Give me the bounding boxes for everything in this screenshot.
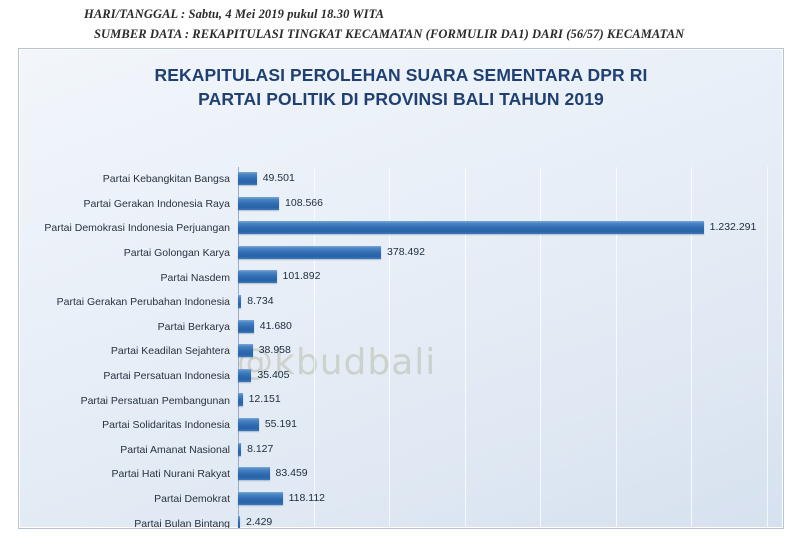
bar-row[interactable]: 35.405	[238, 364, 784, 389]
category-label-row: Partai Amanat Nasional	[19, 438, 238, 463]
category-label: Partai Solidaritas Indonesia	[19, 419, 238, 431]
chart-title-line1: REKAPITULASI PEROLEHAN SUARA SEMENTARA D…	[155, 65, 648, 85]
chart-panel: REKAPITULASI PEROLEHAN SUARA SEMENTARA D…	[18, 48, 784, 529]
bar-value-label: 108.566	[285, 196, 323, 210]
bar[interactable]	[238, 516, 240, 529]
category-label: Partai Kebangkitan Bangsa	[19, 173, 238, 185]
category-label: Partai Persatuan Pembangunan	[19, 395, 238, 407]
bar-value-label: 1.232.291	[710, 220, 757, 234]
category-label: Partai Gerakan Indonesia Raya	[19, 198, 238, 210]
bar-row[interactable]: 8.127	[238, 438, 784, 463]
bar-value-label: 83.459	[276, 466, 308, 480]
bar[interactable]	[238, 418, 259, 431]
category-label: Partai Golongan Karya	[19, 247, 238, 259]
bar[interactable]	[238, 197, 279, 210]
header-source-line: SUMBER DATA : REKAPITULASI TINGKAT KECAM…	[0, 24, 800, 44]
category-label: Partai Demokrat	[19, 493, 238, 505]
category-label: Partai Demokrasi Indonesia Perjuangan	[19, 222, 238, 234]
chart-title: REKAPITULASI PEROLEHAN SUARA SEMENTARA D…	[19, 49, 783, 111]
bar-value-label: 38.958	[259, 343, 291, 357]
header-date-line: HARI/TANGGAL : Sabtu, 4 Mei 2019 pukul 1…	[0, 4, 800, 24]
category-label-row: Partai Nasdem	[19, 265, 238, 290]
bar[interactable]	[238, 344, 253, 357]
category-axis: Partai Kebangkitan BangsaPartai Gerakan …	[19, 167, 238, 529]
category-label: Partai Amanat Nasional	[19, 444, 238, 456]
category-label-row: Partai Golongan Karya	[19, 241, 238, 266]
category-label-row: Partai Persatuan Pembangunan	[19, 388, 238, 413]
bar-value-label: 378.492	[387, 245, 425, 259]
bar[interactable]	[238, 295, 241, 308]
bar-row[interactable]: 101.892	[238, 265, 784, 290]
bar-value-label: 49.501	[263, 171, 295, 185]
category-label: Partai Nasdem	[19, 272, 238, 284]
category-label-row: Partai Bulan Bintang	[19, 511, 238, 529]
bar-row[interactable]: 38.958	[238, 339, 784, 364]
bar-value-label: 8.127	[247, 442, 273, 456]
bar-row[interactable]: 2.429	[238, 511, 784, 529]
category-label: Partai Hati Nurani Rakyat	[19, 468, 238, 480]
bar-row[interactable]: 1.232.291	[238, 216, 784, 241]
category-label-row: Partai Demokrasi Indonesia Perjuangan	[19, 216, 238, 241]
bar-value-label: 2.429	[246, 515, 272, 529]
bar-value-label: 55.191	[265, 417, 297, 431]
category-label-row: Partai Persatuan Indonesia	[19, 364, 238, 389]
report-header: HARI/TANGGAL : Sabtu, 4 Mei 2019 pukul 1…	[0, 0, 800, 46]
bar[interactable]	[238, 369, 251, 382]
category-label-row: Partai Keadilan Sejahtera	[19, 339, 238, 364]
bar-value-label: 101.892	[283, 269, 321, 283]
bar[interactable]	[238, 467, 270, 480]
bar[interactable]	[238, 492, 283, 505]
bar-row[interactable]: 83.459	[238, 462, 784, 487]
category-label: Partai Bulan Bintang	[19, 518, 238, 529]
category-label: Partai Keadilan Sejahtera	[19, 345, 238, 357]
bar-value-label: 8.734	[247, 294, 273, 308]
bar-row[interactable]: 118.112	[238, 487, 784, 512]
bar-row[interactable]: 55.191	[238, 413, 784, 438]
bars-container: 49.501108.5661.232.291378.492101.8928.73…	[238, 167, 784, 529]
bar[interactable]	[238, 393, 243, 406]
chart-title-line2: PARTAI POLITIK DI PROVINSI BALI TAHUN 20…	[19, 87, 783, 111]
bar-value-label: 118.112	[289, 491, 325, 505]
bar-value-label: 41.680	[260, 319, 292, 333]
category-label-row: Partai Kebangkitan Bangsa	[19, 167, 238, 192]
category-label: Partai Berkarya	[19, 321, 238, 333]
category-label-row: Partai Gerakan Perubahan Indonesia	[19, 290, 238, 315]
category-label-row: Partai Demokrat	[19, 487, 238, 512]
category-label-row: Partai Hati Nurani Rakyat	[19, 462, 238, 487]
bar-row[interactable]: 12.151	[238, 388, 784, 413]
bar-row[interactable]: 8.734	[238, 290, 784, 315]
bar[interactable]	[238, 320, 254, 333]
category-label-row: Partai Berkarya	[19, 315, 238, 340]
plot-area: Partai Kebangkitan BangsaPartai Gerakan …	[19, 167, 784, 529]
bar-row[interactable]: 41.680	[238, 315, 784, 340]
category-label: Partai Persatuan Indonesia	[19, 370, 238, 382]
category-label: Partai Gerakan Perubahan Indonesia	[19, 296, 238, 308]
bar-row[interactable]: 108.566	[238, 192, 784, 217]
bar-value-label: 12.151	[249, 392, 281, 406]
bar-row[interactable]: 378.492	[238, 241, 784, 266]
bar[interactable]	[238, 270, 277, 283]
bar[interactable]	[238, 443, 241, 456]
bar[interactable]	[238, 221, 704, 234]
category-label-row: Partai Solidaritas Indonesia	[19, 413, 238, 438]
bar-value-label: 35.405	[257, 368, 289, 382]
bar[interactable]	[238, 246, 381, 259]
category-label-row: Partai Gerakan Indonesia Raya	[19, 192, 238, 217]
bar-row[interactable]: 49.501	[238, 167, 784, 192]
bar[interactable]	[238, 172, 257, 185]
